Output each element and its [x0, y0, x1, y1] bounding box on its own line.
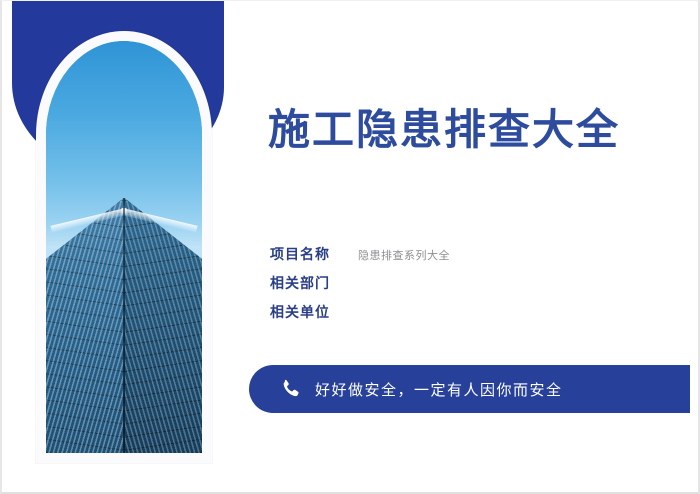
building-photo: [46, 41, 202, 453]
glass-tower-graphic: [46, 198, 202, 453]
meta-row: 相关单位: [270, 302, 600, 331]
meta-value-project-name: 隐患排查系列大全: [358, 247, 450, 263]
phone-icon: [279, 378, 301, 400]
tower-face-right: [124, 198, 202, 453]
title-slide: 施工隐患排查大全 项目名称 隐患排查系列大全 相关部门 相关单位 好好做安全，一…: [0, 0, 700, 494]
page-title: 施工隐患排查大全: [268, 107, 620, 153]
slogan-banner: 好好做安全，一定有人因你而安全: [249, 365, 690, 413]
tower-corner-edge: [123, 198, 125, 453]
meta-label-unit: 相关单位: [270, 302, 348, 322]
meta-list: 项目名称 隐患排查系列大全 相关部门 相关单位: [270, 244, 600, 331]
meta-row: 项目名称 隐患排查系列大全: [270, 244, 600, 273]
tower-face-left: [46, 198, 124, 453]
meta-label-project-name: 项目名称: [270, 244, 348, 264]
meta-label-department: 相关部门: [270, 273, 348, 293]
slogan-text: 好好做安全，一定有人因你而安全: [315, 379, 563, 400]
meta-row: 相关部门: [270, 273, 600, 302]
